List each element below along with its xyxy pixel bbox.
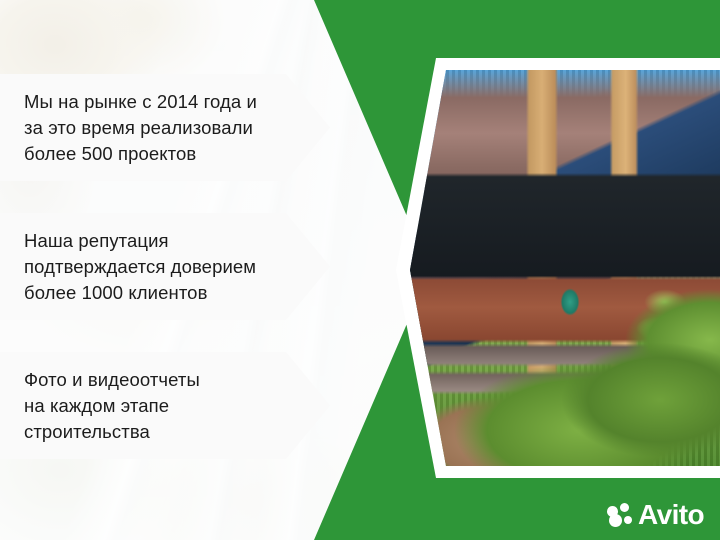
feature-banner-reports: Фото и видеоотчеты на каждом этапе строи…	[0, 352, 330, 459]
avito-dot-2	[620, 503, 629, 512]
avito-wordmark: Avito	[638, 501, 704, 529]
house-photo-card	[410, 70, 720, 466]
avito-dots-icon	[607, 503, 633, 527]
feature-banner-reputation: Наша репутация подтверждается доверием б…	[0, 213, 330, 320]
avito-dot-4	[624, 516, 632, 524]
avito-dot-3	[609, 514, 622, 527]
house-photo-image	[410, 70, 720, 466]
feature-banner-years-on-market: Мы на рынке с 2014 года и за это время р…	[0, 74, 330, 181]
feature-banner-text: Мы на рынке с 2014 года и за это время р…	[24, 89, 257, 167]
ad-banner-canvas: Мы на рынке с 2014 года и за это время р…	[0, 0, 720, 540]
feature-banner-text: Наша репутация подтверждается доверием б…	[24, 228, 256, 306]
feature-banner-text: Фото и видеоотчеты на каждом этапе строи…	[24, 367, 200, 445]
avito-logo: Avito	[607, 498, 704, 532]
